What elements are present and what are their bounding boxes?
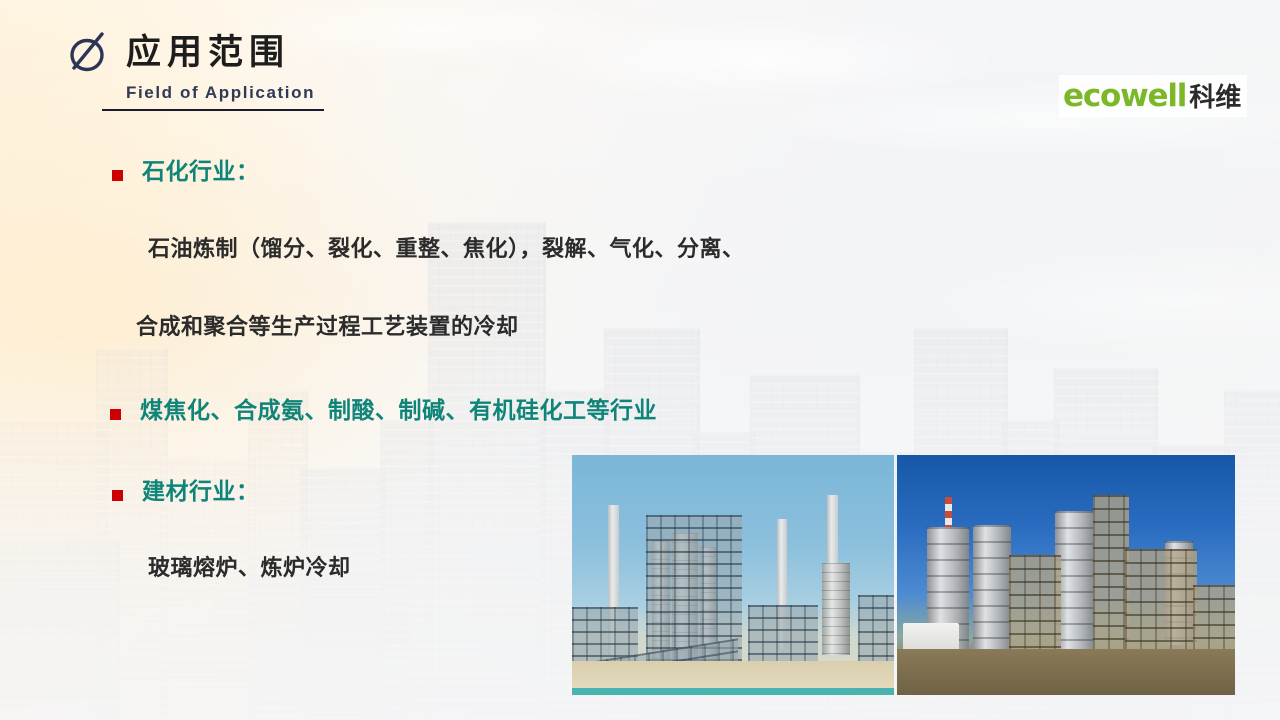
list-item-label: 玻璃熔炉、炼炉冷却 xyxy=(148,556,351,580)
square-bullet-icon xyxy=(112,490,123,501)
square-bullet-icon xyxy=(112,170,123,181)
list-item-label: 合成和聚合等生产过程工艺装置的冷却 xyxy=(136,315,519,339)
list-item: 煤焦化、合成氨、制酸、制碱、有机硅化工等行业 xyxy=(110,398,657,423)
petrochemical-refinery-photo xyxy=(572,455,894,695)
chemical-plant-photo xyxy=(897,455,1235,695)
list-item: 石油炼制（馏分、裂化、重整、焦化），裂解、气化、分离、 xyxy=(148,237,745,261)
list-item: 石化行业： xyxy=(112,159,260,184)
list-item-label: 石油炼制（馏分、裂化、重整、焦化），裂解、气化、分离、 xyxy=(148,237,745,261)
slide-application-scope: 应用范围 Field of Application ecowell 科维 石化行… xyxy=(0,0,1280,720)
list-item-label: 石化行业： xyxy=(142,159,260,184)
list-item: 建材行业： xyxy=(112,479,260,504)
list-item: 玻璃熔炉、炼炉冷却 xyxy=(148,556,351,580)
list-item: 合成和聚合等生产过程工艺装置的冷却 xyxy=(136,315,519,339)
list-item-label: 煤焦化、合成氨、制酸、制碱、有机硅化工等行业 xyxy=(140,398,657,423)
list-item-label: 建材行业： xyxy=(142,479,260,504)
square-bullet-icon xyxy=(110,409,121,420)
